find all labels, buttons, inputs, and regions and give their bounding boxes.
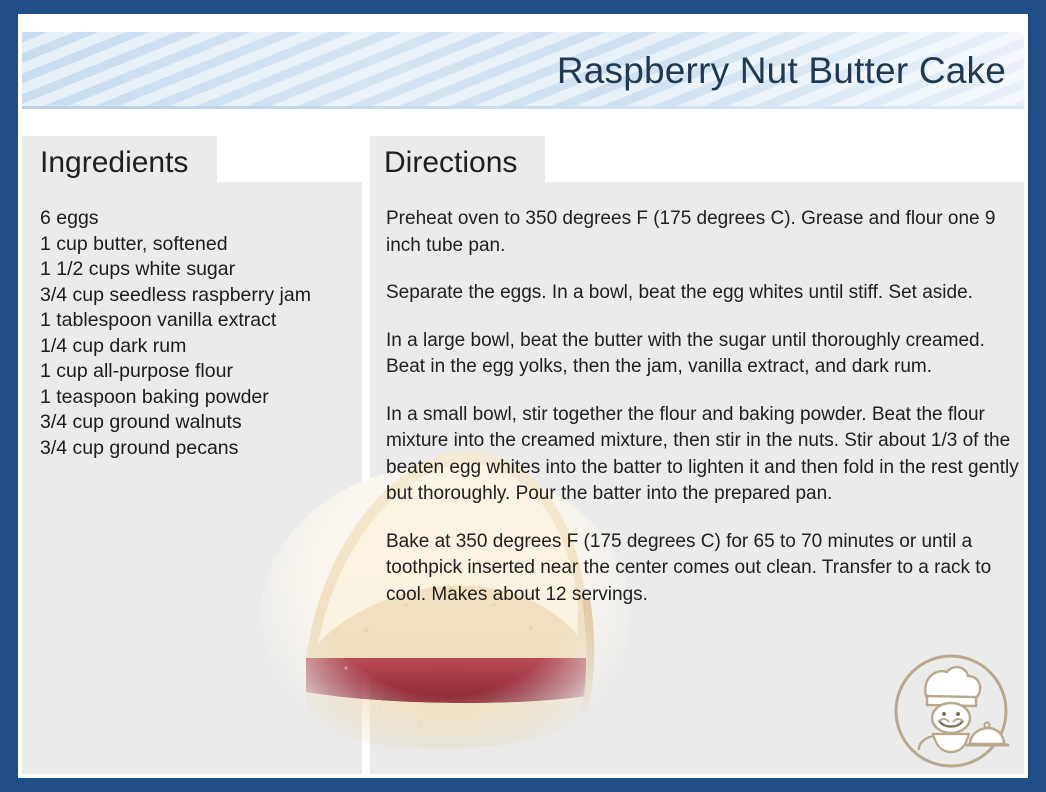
list-item: 1 teaspoon baking powder	[40, 385, 360, 411]
list-item: 6 eggs	[40, 206, 360, 232]
direction-step: In a small bowl, stir together the flour…	[386, 402, 1026, 508]
directions-text: Preheat oven to 350 degrees F (175 degre…	[386, 206, 1026, 608]
list-item: 1 1/2 cups white sugar	[40, 257, 360, 283]
title-banner: Raspberry Nut Butter Cake	[22, 32, 1024, 109]
chef-with-cloche-logo	[892, 652, 1010, 770]
ingredients-heading: Ingredients	[40, 146, 188, 180]
list-item: 1 cup butter, softened	[40, 232, 360, 258]
list-item: 1 tablespoon vanilla extract	[40, 308, 360, 334]
directions-heading-tab: Directions	[370, 136, 545, 182]
ingredients-list: 6 eggs 1 cup butter, softened 1 1/2 cups…	[40, 206, 360, 461]
direction-step: Bake at 350 degrees F (175 degrees C) fo…	[386, 529, 1026, 609]
direction-step: Preheat oven to 350 degrees F (175 degre…	[386, 206, 1026, 259]
recipe-card: Raspberry Nut Butter Cake Ingredients Di…	[18, 14, 1028, 778]
page-title: Raspberry Nut Butter Cake	[557, 50, 1006, 92]
list-item: 3/4 cup ground walnuts	[40, 410, 360, 436]
list-item: 1 cup all-purpose flour	[40, 359, 360, 385]
direction-step: In a large bowl, beat the butter with th…	[386, 328, 1026, 381]
ingredients-heading-tab: Ingredients	[22, 136, 217, 182]
slide-page: Raspberry Nut Butter Cake Ingredients Di…	[0, 0, 1046, 792]
list-item: 3/4 cup ground pecans	[40, 436, 360, 462]
list-item: 3/4 cup seedless raspberry jam	[40, 283, 360, 309]
direction-step: Separate the eggs. In a bowl, beat the e…	[386, 280, 1026, 307]
directions-heading: Directions	[384, 146, 517, 180]
list-item: 1/4 cup dark rum	[40, 334, 360, 360]
